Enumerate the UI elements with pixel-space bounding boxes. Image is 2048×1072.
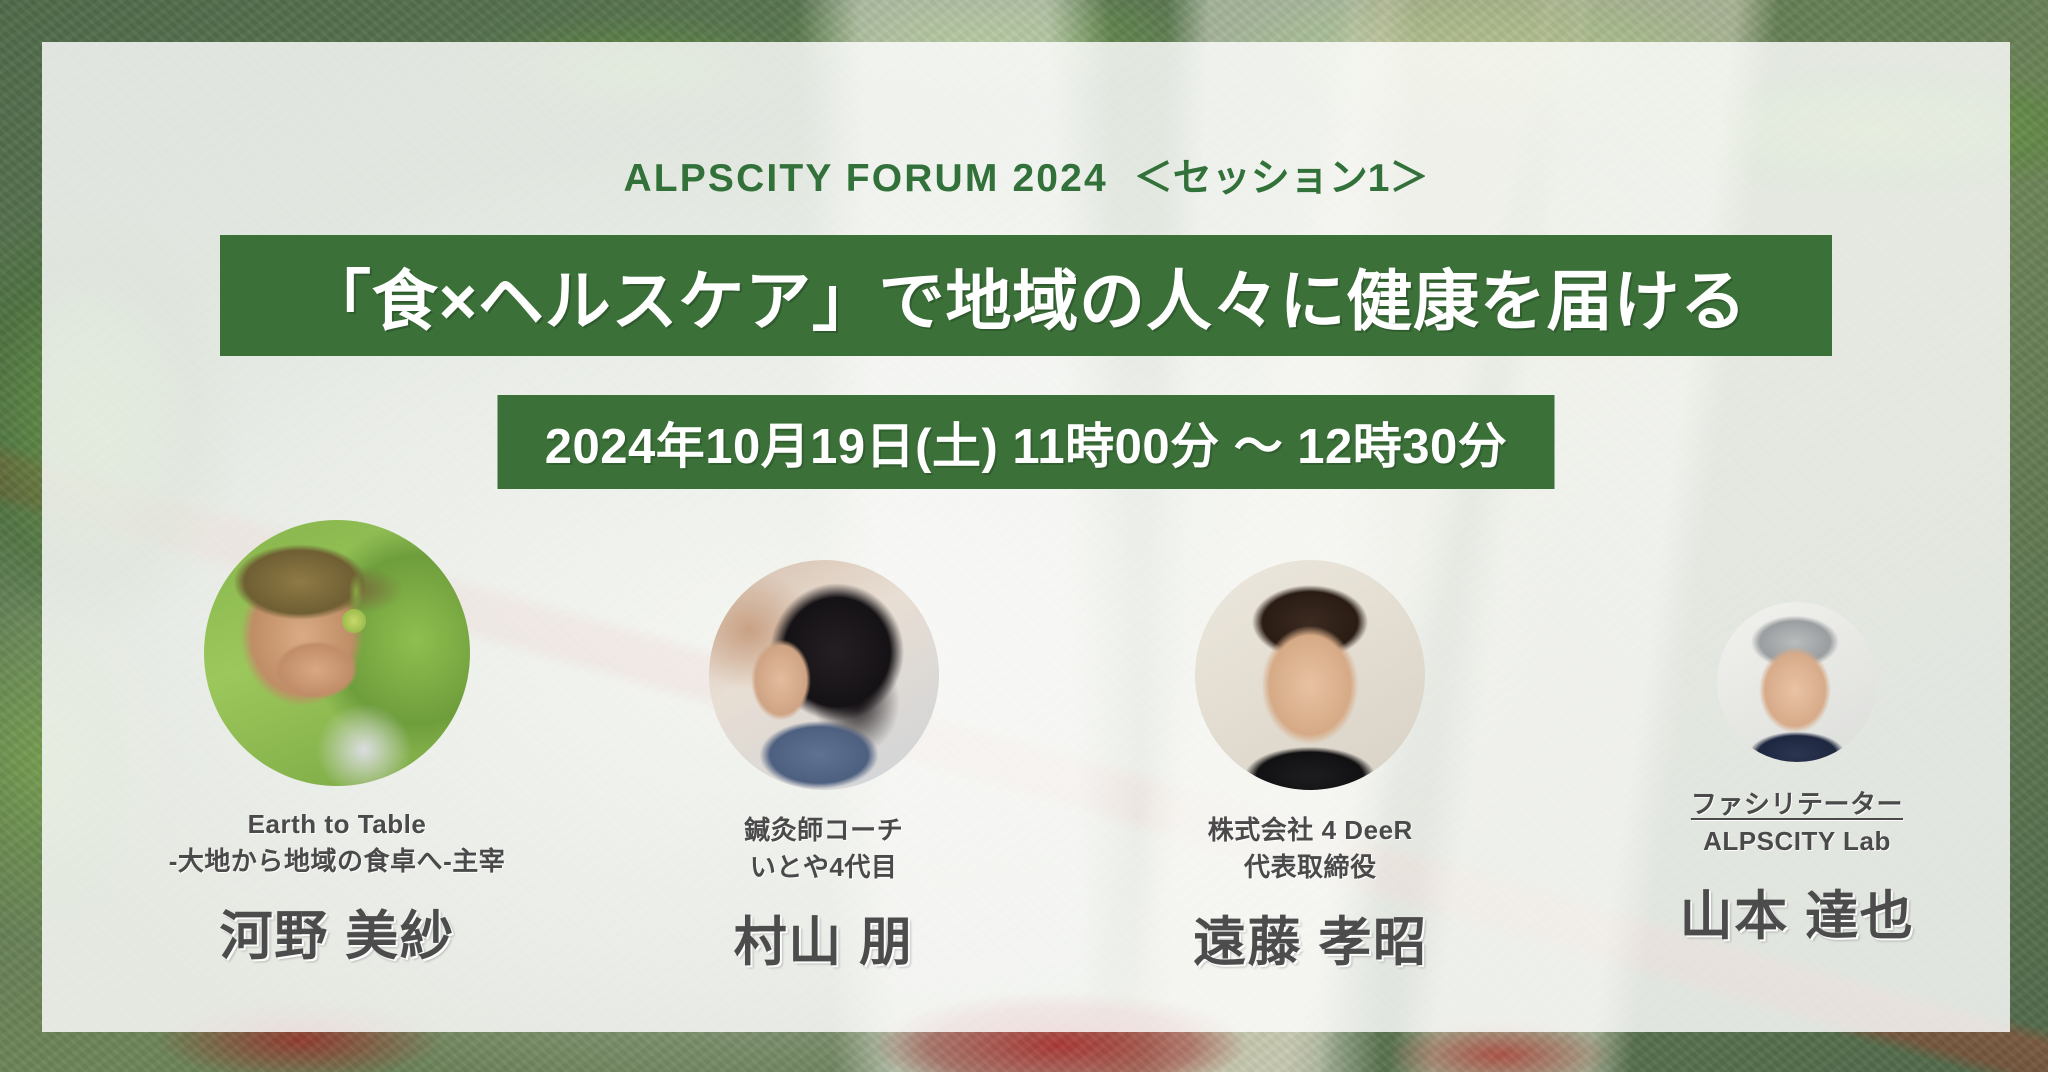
forum-eyebrow: ALPSCITY FORUM 2024＜セッション1＞ xyxy=(42,147,2010,203)
speaker-caption: Earth to Table -大地から地域の食卓へ-主宰 河野 美紗 xyxy=(169,806,506,970)
session-label: ＜セッション1＞ xyxy=(1108,157,1429,200)
speaker-card: ファシリテーター ALPSCITY Lab 山本 達也 xyxy=(1562,520,2032,950)
speaker-name: 遠藤 孝昭 xyxy=(1193,900,1428,976)
speaker-name: 山本 達也 xyxy=(1680,874,1915,950)
speaker-role-line: 鍼灸師コーチ xyxy=(734,812,914,849)
speaker-role-line: -大地から地域の食卓へ-主宰 xyxy=(169,843,506,880)
speaker-photo-4 xyxy=(1717,602,1877,762)
speaker-card: Earth to Table -大地から地域の食卓へ-主宰 河野 美紗 xyxy=(102,520,572,970)
facilitator-label: ファシリテーター xyxy=(1680,786,1915,823)
session-datetime: 2024年10月19日(土) 11時00分 ～ 12時30分 xyxy=(545,407,1508,478)
speaker-card: 鍼灸師コーチ いとや4代目 村山 朋 xyxy=(589,520,1059,976)
speaker-caption: ファシリテーター ALPSCITY Lab 山本 達也 xyxy=(1680,786,1915,950)
speaker-photo-1 xyxy=(204,520,470,786)
speaker-caption: 鍼灸師コーチ いとや4代目 村山 朋 xyxy=(734,812,914,976)
speaker-card: 株式会社 4 DeeR 代表取締役 遠藤 孝昭 xyxy=(1075,520,1545,976)
event-poster: ALPSCITY FORUM 2024＜セッション1＞ 「食×ヘルスケア」で地域… xyxy=(0,0,2048,1072)
session-title-bar: 「食×ヘルスケア」で地域の人々に健康を届ける xyxy=(220,235,1832,356)
speaker-list: Earth to Table -大地から地域の食卓へ-主宰 河野 美紗 鍼灸師コ… xyxy=(102,520,2032,976)
session-title: 「食×ヘルスケア」で地域の人々に健康を届ける xyxy=(305,248,1747,344)
speaker-name: 村山 朋 xyxy=(734,900,914,976)
speaker-photo-3 xyxy=(1195,560,1425,790)
speaker-photo-2 xyxy=(709,560,939,790)
content-panel: ALPSCITY FORUM 2024＜セッション1＞ 「食×ヘルスケア」で地域… xyxy=(42,42,2010,1032)
speaker-name: 河野 美紗 xyxy=(169,894,506,970)
speaker-role-line: ALPSCITY Lab xyxy=(1680,823,1915,860)
speaker-role-line: いとや4代目 xyxy=(734,849,914,886)
speaker-role-line: 代表取締役 xyxy=(1193,849,1428,886)
session-datetime-bar: 2024年10月19日(土) 11時00分 ～ 12時30分 xyxy=(498,395,1555,489)
speaker-caption: 株式会社 4 DeeR 代表取締役 遠藤 孝昭 xyxy=(1193,812,1428,976)
forum-name: ALPSCITY FORUM 2024 xyxy=(623,157,1107,200)
speaker-role-line: Earth to Table xyxy=(169,806,506,843)
speaker-role-line: 株式会社 4 DeeR xyxy=(1193,812,1428,849)
